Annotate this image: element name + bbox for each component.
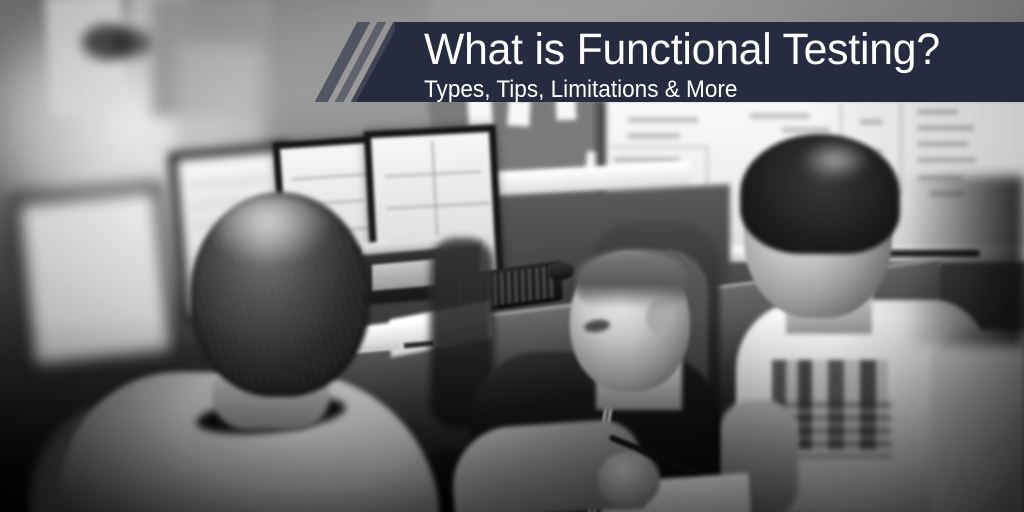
hero-banner-image: What is Functional Testing? Types, Tips,… xyxy=(0,0,1024,512)
title-banner: What is Functional Testing? Types, Tips,… xyxy=(0,22,1024,102)
page-title: What is Functional Testing? xyxy=(424,22,940,75)
banner-text-group: What is Functional Testing? Types, Tips,… xyxy=(424,22,956,102)
page-subtitle: Types, Tips, Limitations & More xyxy=(424,75,924,103)
